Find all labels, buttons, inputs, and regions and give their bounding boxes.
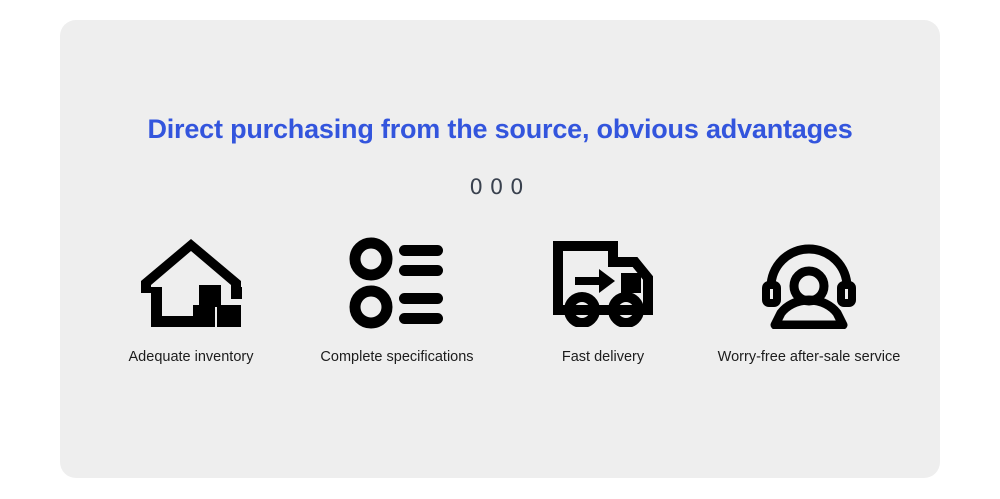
advantages-banner-card: Direct purchasing from the source, obvio… bbox=[60, 20, 940, 478]
feature-item-complete-specifications: Complete specifications bbox=[294, 235, 500, 365]
page-title: Direct purchasing from the source, obvio… bbox=[60, 114, 940, 145]
features-row: Adequate inventory Complete specificatio… bbox=[60, 235, 940, 365]
delivery-truck-icon bbox=[551, 235, 655, 331]
feature-item-fast-delivery: Fast delivery bbox=[500, 235, 706, 365]
specification-list-icon bbox=[345, 235, 449, 331]
ornament-divider: 000 bbox=[60, 175, 940, 199]
customer-service-headset-icon bbox=[757, 235, 861, 331]
feature-item-after-sale-service: Worry-free after-sale service bbox=[706, 235, 912, 365]
feature-label: Complete specifications bbox=[320, 349, 473, 365]
feature-label: Fast delivery bbox=[562, 349, 644, 365]
feature-item-adequate-inventory: Adequate inventory bbox=[88, 235, 294, 365]
feature-label: Adequate inventory bbox=[129, 349, 254, 365]
warehouse-icon bbox=[139, 235, 243, 331]
feature-label: Worry-free after-sale service bbox=[718, 349, 901, 365]
